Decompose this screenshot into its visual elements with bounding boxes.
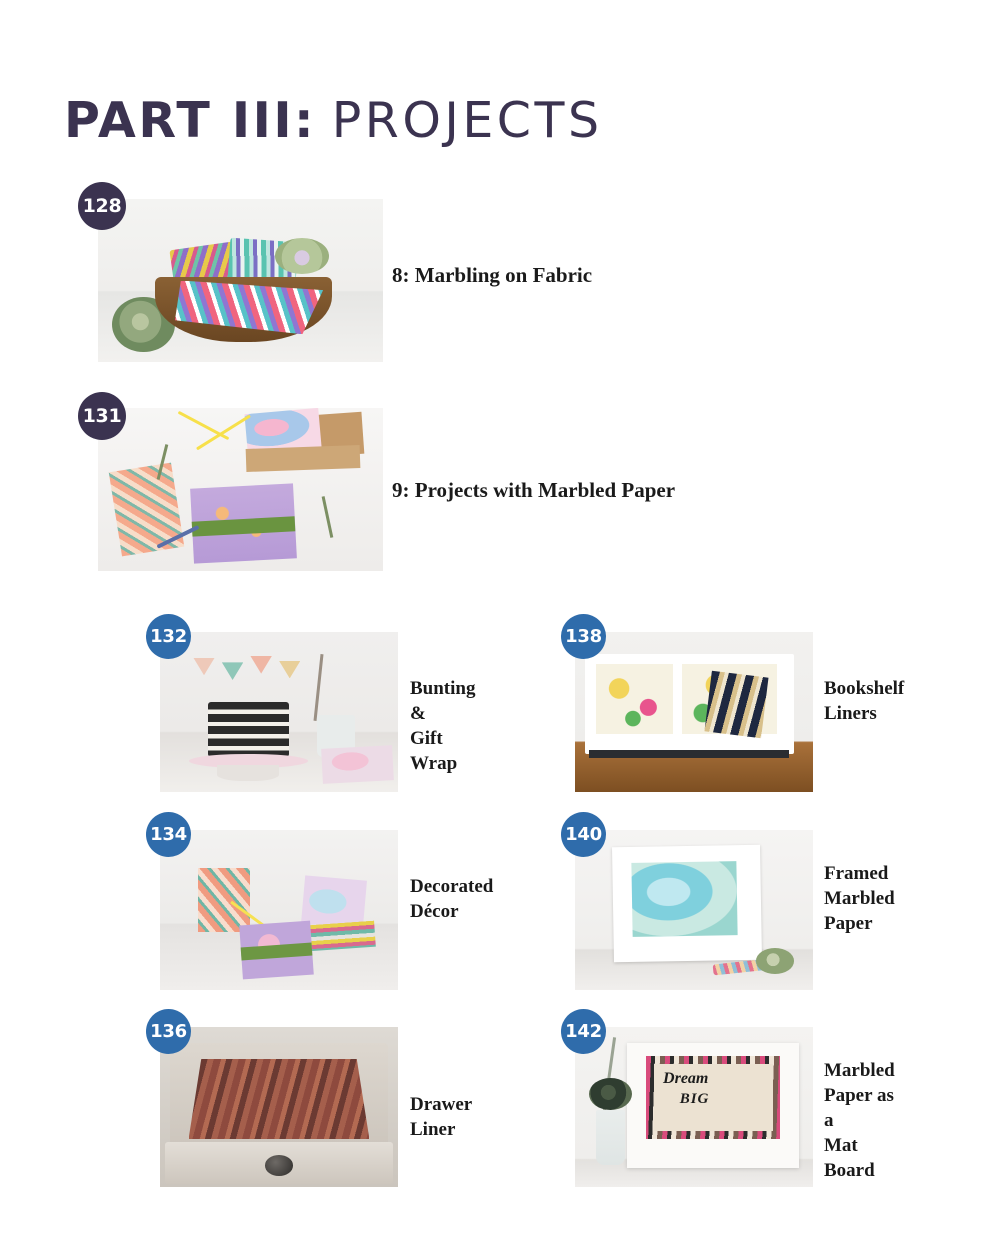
project-title-line: Marbled: [824, 1058, 895, 1083]
patterned-liner-shape: [596, 664, 672, 734]
project-thumbnail-134[interactable]: [160, 830, 398, 990]
project-title-134[interactable]: Decorated Décor: [410, 874, 493, 924]
page-badge-128[interactable]: 128: [78, 182, 126, 230]
bunting-flag-shape: [222, 662, 243, 680]
page-title: PART III: PROJECTS: [64, 92, 603, 150]
plant-sprig-shape: [322, 496, 334, 538]
project-title-line: Paper: [824, 911, 895, 936]
project-thumbnail-140[interactable]: [575, 830, 813, 990]
page-badge-label: 134: [150, 824, 187, 845]
marbled-drawer-liner-shape: [189, 1059, 370, 1139]
stack-of-books-shape: [705, 670, 769, 737]
project-title-line: Mat Board: [824, 1133, 895, 1183]
page-badge-label: 140: [565, 824, 602, 845]
decorated-letter-shape: [198, 868, 250, 932]
yellow-ribbon-shape: [178, 411, 230, 440]
bunting-flag-shape: [193, 658, 214, 676]
project-title-138[interactable]: Bookshelf Liners: [824, 676, 904, 726]
dream-big-print-with-marbled-mat-photo: Dream BIG: [575, 1027, 813, 1187]
page-badge-label: 136: [150, 1021, 187, 1042]
marbled-fabric-in-basket-photo: [98, 199, 383, 362]
project-title-line: Bunting &: [410, 676, 475, 726]
glass-vase-shape: [596, 1110, 625, 1164]
project-thumbnail-132[interactable]: [160, 632, 398, 792]
cake-with-bunting-and-gift-wrap-photo: [160, 632, 398, 792]
project-title-line: Marbled: [824, 886, 895, 911]
bunting-flag-shape: [250, 656, 271, 674]
project-title-142[interactable]: Marbled Paper as a Mat Board: [824, 1058, 895, 1183]
cake-stand-shape: [217, 765, 279, 781]
chapter-title-label: 8: Marbling on Fabric: [392, 263, 592, 287]
shelf-base-shape: [589, 750, 789, 758]
page-badge-134[interactable]: 134: [146, 812, 191, 857]
rose-shape: [589, 1078, 632, 1110]
big-word-text: BIG: [680, 1091, 710, 1108]
chapter-thumbnail-128[interactable]: [98, 199, 383, 362]
page-badge-132[interactable]: 132: [146, 614, 191, 659]
page-badge-131[interactable]: 131: [78, 392, 126, 440]
project-title-line: Liners: [824, 701, 904, 726]
project-title-140[interactable]: Framed Marbled Paper: [824, 861, 895, 936]
page-badge-label: 142: [565, 1021, 602, 1042]
page-badge-label: 138: [565, 626, 602, 647]
drawer-knob-shape: [265, 1155, 294, 1176]
project-title-136[interactable]: Drawer Liner: [410, 1092, 472, 1142]
chapter-title-label: 9: Projects with Marbled Paper: [392, 478, 675, 502]
project-title-line: Bookshelf: [824, 676, 904, 701]
page-badge-label: 128: [83, 195, 122, 217]
project-title-132[interactable]: Bunting & Gift Wrap: [410, 676, 475, 776]
marbled-paper-projects-flatlay-photo: [98, 408, 383, 571]
project-title-line: Drawer Liner: [410, 1092, 472, 1142]
chapter-thumbnail-131[interactable]: [98, 408, 383, 571]
decorated-letter-shape: [109, 462, 184, 556]
colored-paper-stack-shape: [307, 921, 375, 951]
page-title-projects: PROJECTS: [332, 92, 603, 149]
page-badge-142[interactable]: 142: [561, 1009, 606, 1054]
bunting-flag-shape: [279, 661, 300, 679]
project-thumbnail-136[interactable]: [160, 1027, 398, 1187]
kraft-paper-shape: [246, 445, 361, 472]
project-title-line: Decorated: [410, 874, 493, 899]
project-title-line: Paper as a: [824, 1083, 895, 1133]
succulent-shape: [275, 238, 329, 274]
page-badge-140[interactable]: 140: [561, 812, 606, 857]
page-badge-label: 131: [83, 405, 122, 427]
framed-marbled-paper-artwork-photo: [575, 830, 813, 990]
succulent-shape: [756, 948, 794, 974]
chapter-title-128[interactable]: 8: Marbling on Fabric: [392, 262, 592, 288]
yellow-ribbon-shape: [196, 414, 251, 450]
bookshelf-with-patterned-liners-photo: [575, 632, 813, 792]
project-thumbnail-142[interactable]: Dream BIG: [575, 1027, 813, 1187]
decorated-letter-and-journals-photo: [160, 830, 398, 990]
dream-word-text: Dream: [663, 1070, 708, 1088]
chapter-title-131[interactable]: 9: Projects with Marbled Paper: [392, 477, 675, 503]
page-badge-label: 132: [150, 626, 187, 647]
page-badge-136[interactable]: 136: [146, 1009, 191, 1054]
project-title-line: Gift Wrap: [410, 726, 475, 776]
project-title-line: Framed: [824, 861, 895, 886]
drawer-with-marbled-liner-photo: [160, 1027, 398, 1187]
page-title-part: PART III:: [64, 92, 316, 149]
project-title-line: Décor: [410, 899, 493, 924]
flower-branch-shape: [314, 654, 324, 721]
marbled-card-shape: [301, 875, 367, 928]
page-badge-138[interactable]: 138: [561, 614, 606, 659]
gift-wrap-shape: [321, 745, 394, 784]
layer-cake-shape: [208, 702, 289, 756]
marbled-artwork-shape: [631, 861, 737, 936]
project-thumbnail-138[interactable]: [575, 632, 813, 792]
